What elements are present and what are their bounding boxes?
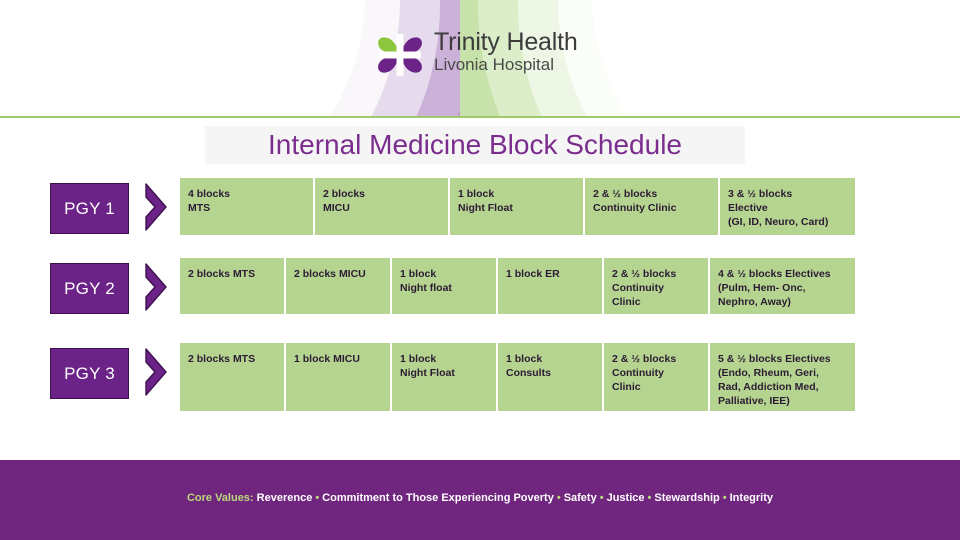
rotation-cell-line: Continuity Clinic <box>593 201 710 215</box>
row-cells: 4 blocksMTS2 blocksMICU1 blockNight Floa… <box>180 178 855 235</box>
footer-separator: • <box>597 492 607 504</box>
page-title: Internal Medicine Block Schedule <box>205 126 745 164</box>
rotation-cell-line: 4 & ½ blocks Electives <box>718 267 847 281</box>
rotation-cell: 1 blockNight float <box>392 258 498 314</box>
rotation-cell-line: Night Float <box>458 201 575 215</box>
pgy-level-badge: PGY 1 <box>50 183 129 234</box>
rotation-cell-line: 1 block ER <box>506 267 594 281</box>
rotation-cell: 2 & ½ blocksContinuity Clinic <box>585 178 720 235</box>
core-values-statement: Core Values: Reverence•Commitment to Tho… <box>0 492 960 504</box>
rotation-cell-line: Night Float <box>400 366 488 380</box>
rotation-cell-line: 2 blocks MTS <box>188 352 276 366</box>
rotation-cell: 2 blocks MTS <box>180 343 286 411</box>
rotation-cell-line: 5 & ½ blocks Electives <box>718 352 847 366</box>
rotation-cell: 4 blocksMTS <box>180 178 315 235</box>
rotation-cell-line: (Endo, Rheum, Geri, <box>718 366 847 380</box>
rotation-cell-line: Clinic <box>612 380 700 394</box>
rotation-cell-line: 1 block MICU <box>294 352 382 366</box>
rotation-cell-line: 2 blocks <box>323 187 440 201</box>
rotation-cell-line: MTS <box>188 201 305 215</box>
rotation-cell-line: Consults <box>506 366 594 380</box>
row-cells: 2 blocks MTS1 block MICU1 blockNight Flo… <box>180 343 855 411</box>
chevron-right-icon <box>143 182 169 232</box>
rotation-cell: 2 & ½ blocksContinuityClinic <box>604 343 710 411</box>
footer-separator: • <box>720 492 730 504</box>
rotation-cell-line: 2 & ½ blocks <box>612 267 700 281</box>
core-values-label: Core Values: <box>187 492 254 504</box>
core-value: Reverence <box>257 492 313 504</box>
rotation-cell-line: MICU <box>323 201 440 215</box>
rotation-cell-line: Palliative, IEE) <box>718 394 847 408</box>
rotation-cell-line: 1 block <box>458 187 575 201</box>
rotation-cell: 3 & ½ blocksElective(GI, ID, Neuro, Card… <box>720 178 855 235</box>
rotation-cell: 1 block ER <box>498 258 604 314</box>
rotation-cell-line: 2 & ½ blocks <box>593 187 710 201</box>
rotation-cell: 1 blockConsults <box>498 343 604 411</box>
trinity-health-cross-logo-icon <box>370 26 430 84</box>
rotation-cell: 2 blocksMICU <box>315 178 450 235</box>
brand-sub-name: Livonia Hospital <box>434 55 554 74</box>
rotation-cell-line: 1 block <box>506 352 594 366</box>
rotation-cell-line: (Pulm, Hem- Onc, <box>718 281 847 295</box>
core-value: Justice <box>607 492 645 504</box>
footer-separator: • <box>312 492 322 504</box>
rotation-cell: 5 & ½ blocks Electives(Endo, Rheum, Geri… <box>710 343 855 411</box>
core-value: Commitment to Those Experiencing Poverty <box>322 492 554 504</box>
rotation-cell-line: 2 blocks MICU <box>294 267 382 281</box>
rotation-cell-line: Clinic <box>612 295 700 309</box>
core-value: Stewardship <box>654 492 719 504</box>
footer-separator: • <box>645 492 655 504</box>
row-cells: 2 blocks MTS2 blocks MICU1 blockNight fl… <box>180 258 855 314</box>
rotation-cell-line: (GI, ID, Neuro, Card) <box>728 215 847 229</box>
pgy-level-badge: PGY 2 <box>50 263 129 314</box>
rotation-cell: 1 block MICU <box>286 343 392 411</box>
pgy-level-badge: PGY 3 <box>50 348 129 399</box>
rotation-cell-line: Continuity <box>612 281 700 295</box>
rotation-cell: 2 blocks MICU <box>286 258 392 314</box>
rotation-cell: 2 blocks MTS <box>180 258 286 314</box>
chevron-right-icon <box>143 262 169 312</box>
rotation-cell-line: 2 blocks MTS <box>188 267 276 281</box>
core-value: Integrity <box>730 492 773 504</box>
footer-separator: • <box>554 492 564 504</box>
rotation-cell: 1 blockNight Float <box>392 343 498 411</box>
rotation-cell-line: Continuity <box>612 366 700 380</box>
rotation-cell: 2 & ½ blocksContinuityClinic <box>604 258 710 314</box>
rotation-cell-line: 1 block <box>400 267 488 281</box>
rotation-cell-line: Night float <box>400 281 488 295</box>
rotation-cell-line: 1 block <box>400 352 488 366</box>
rotation-cell-line: 4 blocks <box>188 187 305 201</box>
rotation-cell-line: Nephro, Away) <box>718 295 847 309</box>
brand-name: Trinity Health <box>434 28 578 56</box>
brand-text: Trinity Health Livonia Hospital <box>434 24 640 75</box>
rotation-cell: 4 & ½ blocks Electives(Pulm, Hem- Onc,Ne… <box>710 258 855 314</box>
rotation-cell-line: 2 & ½ blocks <box>612 352 700 366</box>
header-divider <box>0 116 960 118</box>
core-value: Safety <box>564 492 597 504</box>
rotation-cell-line: Elective <box>728 201 847 215</box>
rotation-cell-line: 3 & ½ blocks <box>728 187 847 201</box>
rotation-cell: 1 blockNight Float <box>450 178 585 235</box>
brand-logo: Trinity Health Livonia Hospital <box>370 24 640 100</box>
chevron-right-icon <box>143 347 169 397</box>
rotation-cell-line: Rad, Addiction Med, <box>718 380 847 394</box>
